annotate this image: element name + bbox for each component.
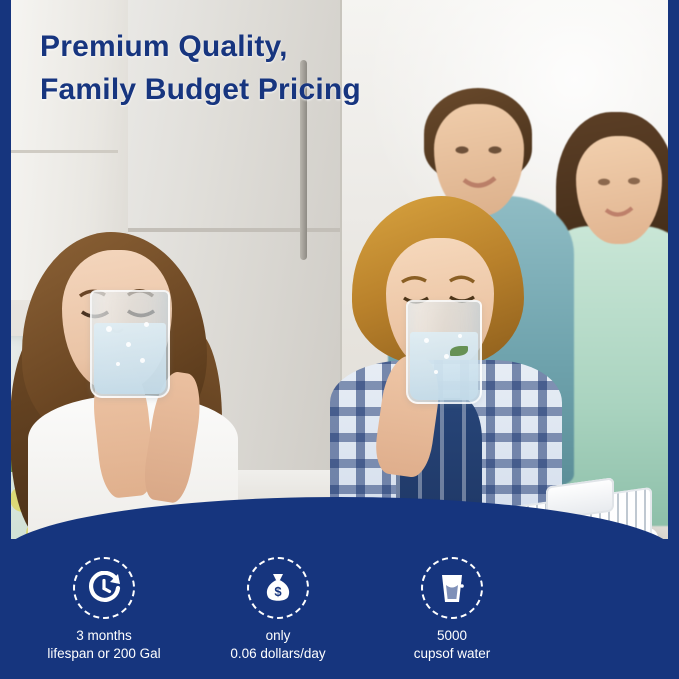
water-bubble <box>458 334 462 338</box>
product-lifestyle-image: Premium Quality, Family Budget Pricing 3… <box>0 0 679 679</box>
water-glass-glyph <box>437 571 467 605</box>
headline-line-1: Premium Quality, <box>40 26 361 69</box>
feature-capacity-line2: cupsof water <box>382 645 522 663</box>
water-bubble <box>140 358 145 363</box>
water-bubble <box>106 326 112 332</box>
girl-water-glass <box>90 290 170 398</box>
money-bag-glyph: $ <box>262 571 294 605</box>
page-title: Premium Quality, Family Budget Pricing <box>40 26 361 111</box>
feature-cost-line2: 0.06 dollars/day <box>208 645 348 663</box>
feature-lifespan-line2: lifespan or 200 Gal <box>34 645 174 663</box>
mother-face <box>576 136 662 244</box>
water-bubble <box>116 362 120 366</box>
refrigerator-seam <box>128 228 340 232</box>
water-bubble <box>424 338 429 343</box>
feature-list: 3 months lifespan or 200 Gal $ only 0.06… <box>34 557 522 663</box>
mother-features <box>576 136 662 244</box>
headline-line-2: Family Budget Pricing <box>40 69 361 112</box>
glass-water <box>410 332 478 400</box>
clock-arrow-icon <box>73 557 135 619</box>
feature-cost: $ only 0.06 dollars/day <box>208 557 348 663</box>
water-bubble <box>444 354 449 359</box>
feature-lifespan-line1: 3 months <box>34 627 174 645</box>
water-bubble <box>126 342 131 347</box>
water-glass-icon <box>421 557 483 619</box>
svg-text:$: $ <box>274 584 282 599</box>
boy-water-glass <box>406 300 482 404</box>
feature-cost-line1: only <box>208 627 348 645</box>
money-bag-icon: $ <box>247 557 309 619</box>
glass-water <box>94 323 166 394</box>
feature-capacity-line1: 5000 <box>382 627 522 645</box>
feature-capacity: 5000 cupsof water <box>382 557 522 663</box>
water-bubble <box>434 370 438 374</box>
clock-arrow-glyph <box>87 571 121 605</box>
feature-lifespan: 3 months lifespan or 200 Gal <box>34 557 174 663</box>
water-bubble <box>144 322 149 327</box>
